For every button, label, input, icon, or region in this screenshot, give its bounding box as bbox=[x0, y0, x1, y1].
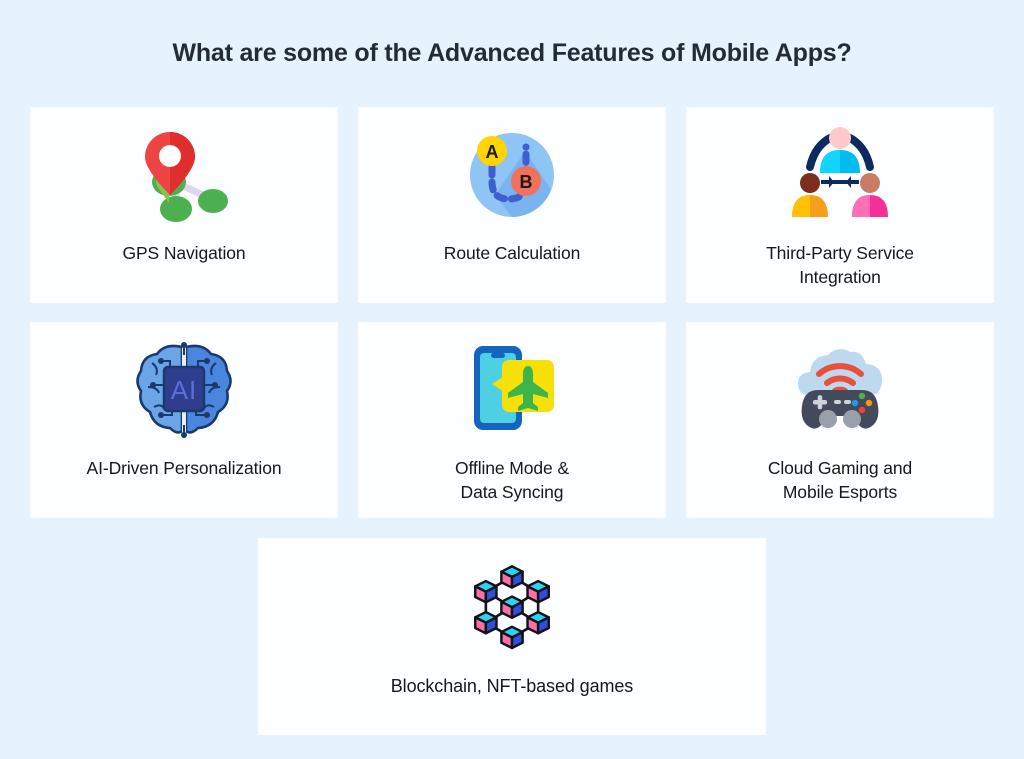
feature-card-cloud-gaming[interactable]: Cloud Gaming and Mobile Esports bbox=[686, 322, 994, 518]
ai-brain-chip-icon: AI bbox=[132, 338, 236, 442]
route-ab-icon: A B bbox=[461, 123, 563, 227]
three-people-integration-icon bbox=[788, 123, 892, 227]
feature-card-label: Offline Mode & Data Syncing bbox=[358, 456, 666, 504]
route-marker-a-label: A bbox=[486, 142, 499, 162]
feature-card-third-party-integration[interactable]: Third-Party Service Integration bbox=[686, 107, 994, 303]
feature-card-gps-navigation[interactable]: GPS Navigation bbox=[30, 107, 338, 303]
feature-card-label: AI-Driven Personalization bbox=[30, 456, 338, 480]
feature-card-label: Blockchain, NFT-based games bbox=[258, 674, 766, 698]
feature-card-label: Cloud Gaming and Mobile Esports bbox=[686, 456, 994, 504]
feature-card-blockchain-nft[interactable]: Blockchain, NFT-based games bbox=[258, 538, 766, 735]
gps-pin-network-icon bbox=[132, 123, 236, 227]
feature-card-offline-mode[interactable]: Offline Mode & Data Syncing bbox=[358, 322, 666, 518]
cloud-wifi-gamepad-icon bbox=[788, 338, 892, 442]
infographic-root: What are some of the Advanced Features o… bbox=[0, 0, 1024, 759]
route-marker-b-label: B bbox=[520, 172, 533, 192]
feature-card-label: Third-Party Service Integration bbox=[686, 241, 994, 289]
blockchain-cubes-icon bbox=[463, 558, 561, 658]
ai-chip-label: AI bbox=[171, 375, 198, 405]
feature-card-label: Route Calculation bbox=[358, 241, 666, 265]
feature-card-route-calculation[interactable]: A B Route Calculation bbox=[358, 107, 666, 303]
phone-airplane-mode-icon bbox=[462, 338, 562, 442]
feature-card-label: GPS Navigation bbox=[30, 241, 338, 265]
feature-card-ai-personalization[interactable]: AI AI-Driven Personalization bbox=[30, 322, 338, 518]
page-title: What are some of the Advanced Features o… bbox=[0, 36, 1024, 70]
